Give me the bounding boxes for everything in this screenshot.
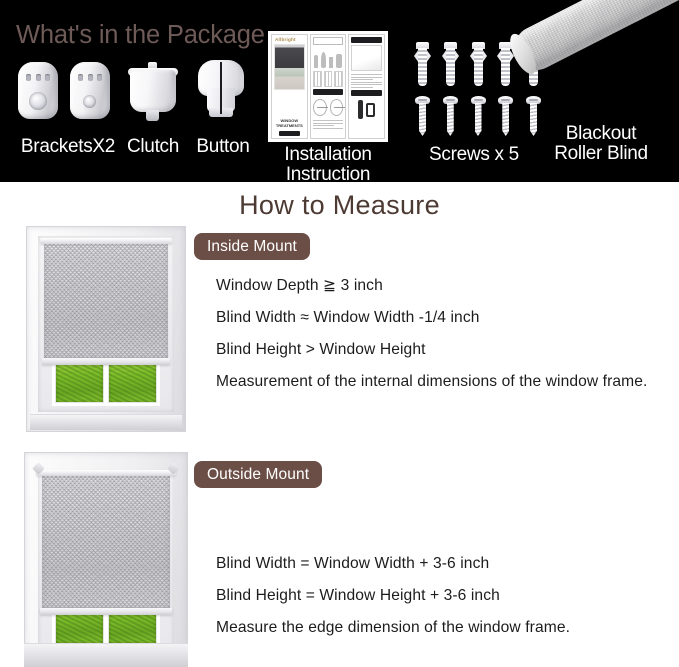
window-sill	[30, 414, 182, 430]
manual-icon: Allbright WINDOW TREATMENTS	[268, 31, 388, 142]
manual-step-bar	[313, 89, 344, 95]
bracket-hole	[29, 92, 47, 110]
measure-line: Blind Width = Window Width + 3-6 inch	[216, 548, 671, 580]
clutch-icon	[130, 70, 176, 112]
roller-shade-headrail	[36, 470, 176, 476]
bracket-icon	[70, 62, 110, 119]
clutch-bottom-pin	[146, 110, 159, 121]
manual-cover-badge	[279, 131, 300, 136]
manual-panel-parts	[310, 34, 347, 139]
bracket-icon	[18, 62, 58, 119]
measure-line: Window Depth ≧ 3 inch	[216, 270, 671, 302]
outside-mount-text: Blind Width = Window Width + 3-6 inch Bl…	[216, 548, 671, 644]
roller-shade-headrail	[40, 238, 172, 244]
wall-anchor-icon	[470, 42, 487, 86]
measure-line: Blind Width ≈ Window Width -1/4 inch	[216, 302, 671, 334]
measure-line: Blind Height > Window Height	[216, 334, 671, 366]
measure-title: How to Measure	[0, 190, 679, 221]
roller-blind-label: Blackout Roller Blind	[554, 124, 648, 164]
measure-line: Measurement of the internal dimensions o…	[216, 366, 671, 398]
roller-shade-bottom-bar	[40, 608, 172, 615]
screw-icon	[414, 96, 431, 140]
manual-panel-steps	[348, 34, 385, 139]
wall-anchor-icon	[442, 42, 459, 86]
manual-step-diagram	[351, 45, 382, 71]
manual-illustration: Allbright WINDOW TREATMENTS	[268, 31, 388, 142]
manual-wrench-diagram	[351, 98, 382, 122]
screws-label: Screws x 5	[429, 145, 519, 165]
manual-circle-diagram	[313, 97, 344, 117]
button-label: Button	[196, 137, 249, 157]
inside-mount-badge: Inside Mount	[194, 233, 310, 260]
outside-mount-window-figure	[24, 452, 188, 667]
manual-parts-diagram	[313, 47, 344, 69]
wall-anchor-icon	[414, 42, 431, 86]
manual-step-bar	[351, 37, 382, 43]
screw-icon	[470, 96, 487, 140]
clutch-label: Clutch	[127, 137, 179, 157]
manual-section-heading	[313, 37, 344, 45]
package-contents-panel: What's in the Package BracketsX2 Clutch	[0, 0, 679, 182]
button-illustration	[190, 58, 252, 122]
package-heading: What's in the Package	[16, 21, 265, 50]
outside-mount-block: Outside Mount Blind Width = Window Width…	[0, 450, 679, 667]
brackets-illustration	[8, 62, 128, 120]
brackets-label: BracketsX2	[21, 137, 115, 157]
manual-body-text	[313, 119, 344, 129]
roller-shade-bottom-bar	[42, 358, 170, 365]
manual-parts-grid	[313, 71, 344, 87]
manual-label: Installation Instruction	[284, 145, 371, 182]
product-infographic: What's in the Package BracketsX2 Clutch	[0, 0, 679, 667]
manual-brand-logo: Allbright	[274, 37, 305, 42]
how-to-measure-section: How to Measure Inside Mount Window Depth…	[0, 182, 679, 667]
roller-shade-fabric	[42, 474, 170, 610]
manual-panel-front: Allbright WINDOW TREATMENTS	[271, 34, 308, 139]
measure-line: Blind Height = Window Height + 3-6 inch	[216, 580, 671, 612]
bracket-hole	[83, 95, 96, 108]
manual-body-text	[351, 73, 382, 88]
clutch-illustration	[122, 60, 184, 122]
measure-line: Measure the edge dimension of the window…	[216, 612, 671, 644]
outside-mount-badge: Outside Mount	[194, 461, 322, 488]
bracket-slots	[26, 74, 50, 81]
inside-mount-block: Inside Mount Window Depth ≧ 3 inch Blind…	[0, 222, 679, 437]
bracket-slots	[78, 74, 102, 81]
inside-mount-window-figure	[26, 226, 186, 432]
roller-blind-illustration	[523, 6, 679, 126]
screw-icon	[497, 96, 514, 140]
roller-shade-fabric	[44, 242, 168, 360]
manual-cover-photo	[274, 44, 305, 90]
button-slit	[220, 62, 222, 114]
manual-cover-caption: WINDOW TREATMENTS	[274, 118, 305, 128]
manual-step-bar	[351, 90, 382, 96]
inside-mount-text: Window Depth ≧ 3 inch Blind Width ≈ Wind…	[216, 270, 671, 398]
window-sill	[24, 643, 188, 667]
screw-icon	[442, 96, 459, 140]
